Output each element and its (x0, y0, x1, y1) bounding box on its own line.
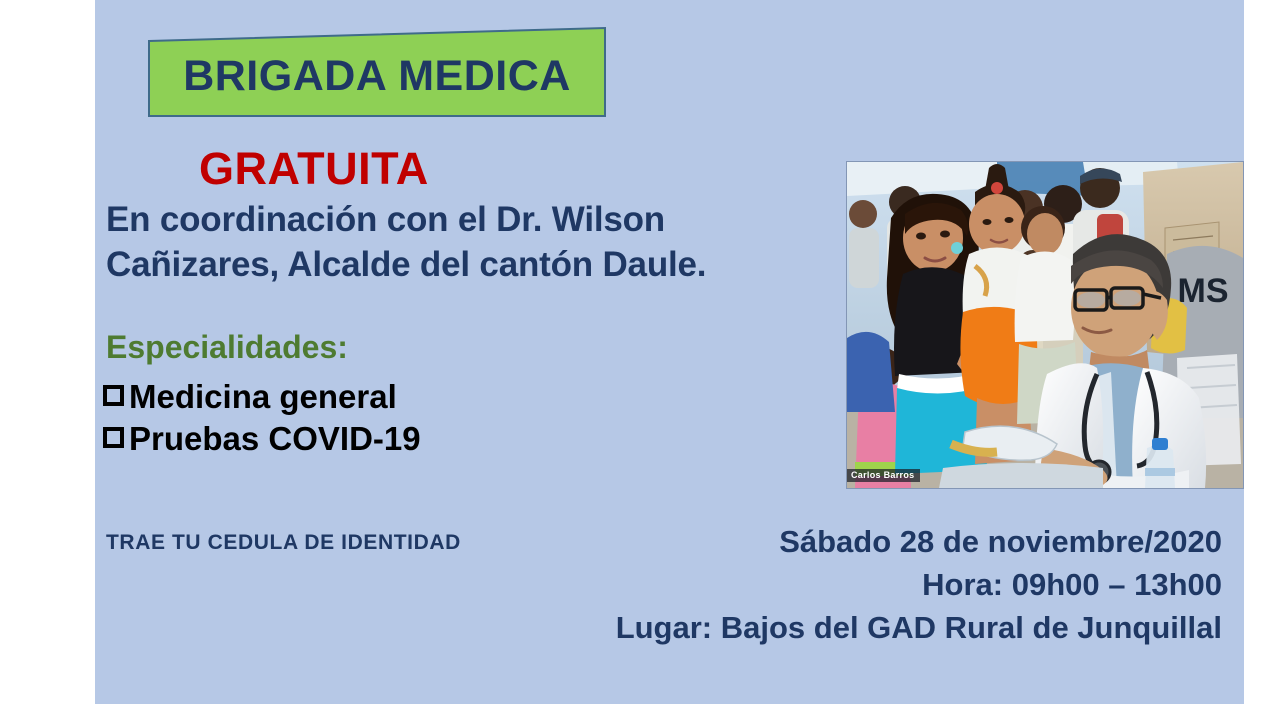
slide-canvas: BRIGADA MEDICA GRATUITA En coordinación … (95, 0, 1244, 704)
event-time: Hora: 09h00 – 13h00 (522, 564, 1222, 607)
bring-id-notice: TRAE TU CEDULA DE IDENTIDAD (106, 531, 461, 555)
brigade-photo-illustration: MS (847, 162, 1243, 488)
event-place: Lugar: Bajos del GAD Rural de Junquillal (522, 607, 1222, 650)
coordination-line-2: Cañizares, Alcalde del cantón Daule. (106, 243, 886, 288)
brigade-photo: MS (847, 162, 1243, 488)
specialties-list: Medicina general Pruebas COVID-19 (103, 376, 421, 460)
list-item-label: Medicina general (129, 378, 397, 415)
photo-watermark: Carlos Barros (847, 469, 920, 482)
list-item-label: Pruebas COVID-19 (129, 420, 421, 457)
page-title: BRIGADA MEDICA (147, 26, 607, 118)
svg-text:MS: MS (1178, 272, 1229, 310)
specialties-heading: Especialidades: (106, 329, 348, 366)
checkbox-square-icon (103, 427, 124, 448)
checkbox-square-icon (103, 385, 124, 406)
coordination-text: En coordinación con el Dr. Wilson Cañiza… (106, 198, 886, 288)
list-item: Pruebas COVID-19 (103, 418, 421, 460)
title-banner: BRIGADA MEDICA (147, 26, 607, 118)
coordination-line-1: En coordinación con el Dr. Wilson (106, 198, 886, 243)
list-item: Medicina general (103, 376, 421, 418)
event-date: Sábado 28 de noviembre/2020 (522, 521, 1222, 564)
gratuita-label: GRATUITA (199, 143, 429, 195)
event-details: Sábado 28 de noviembre/2020 Hora: 09h00 … (522, 521, 1222, 649)
